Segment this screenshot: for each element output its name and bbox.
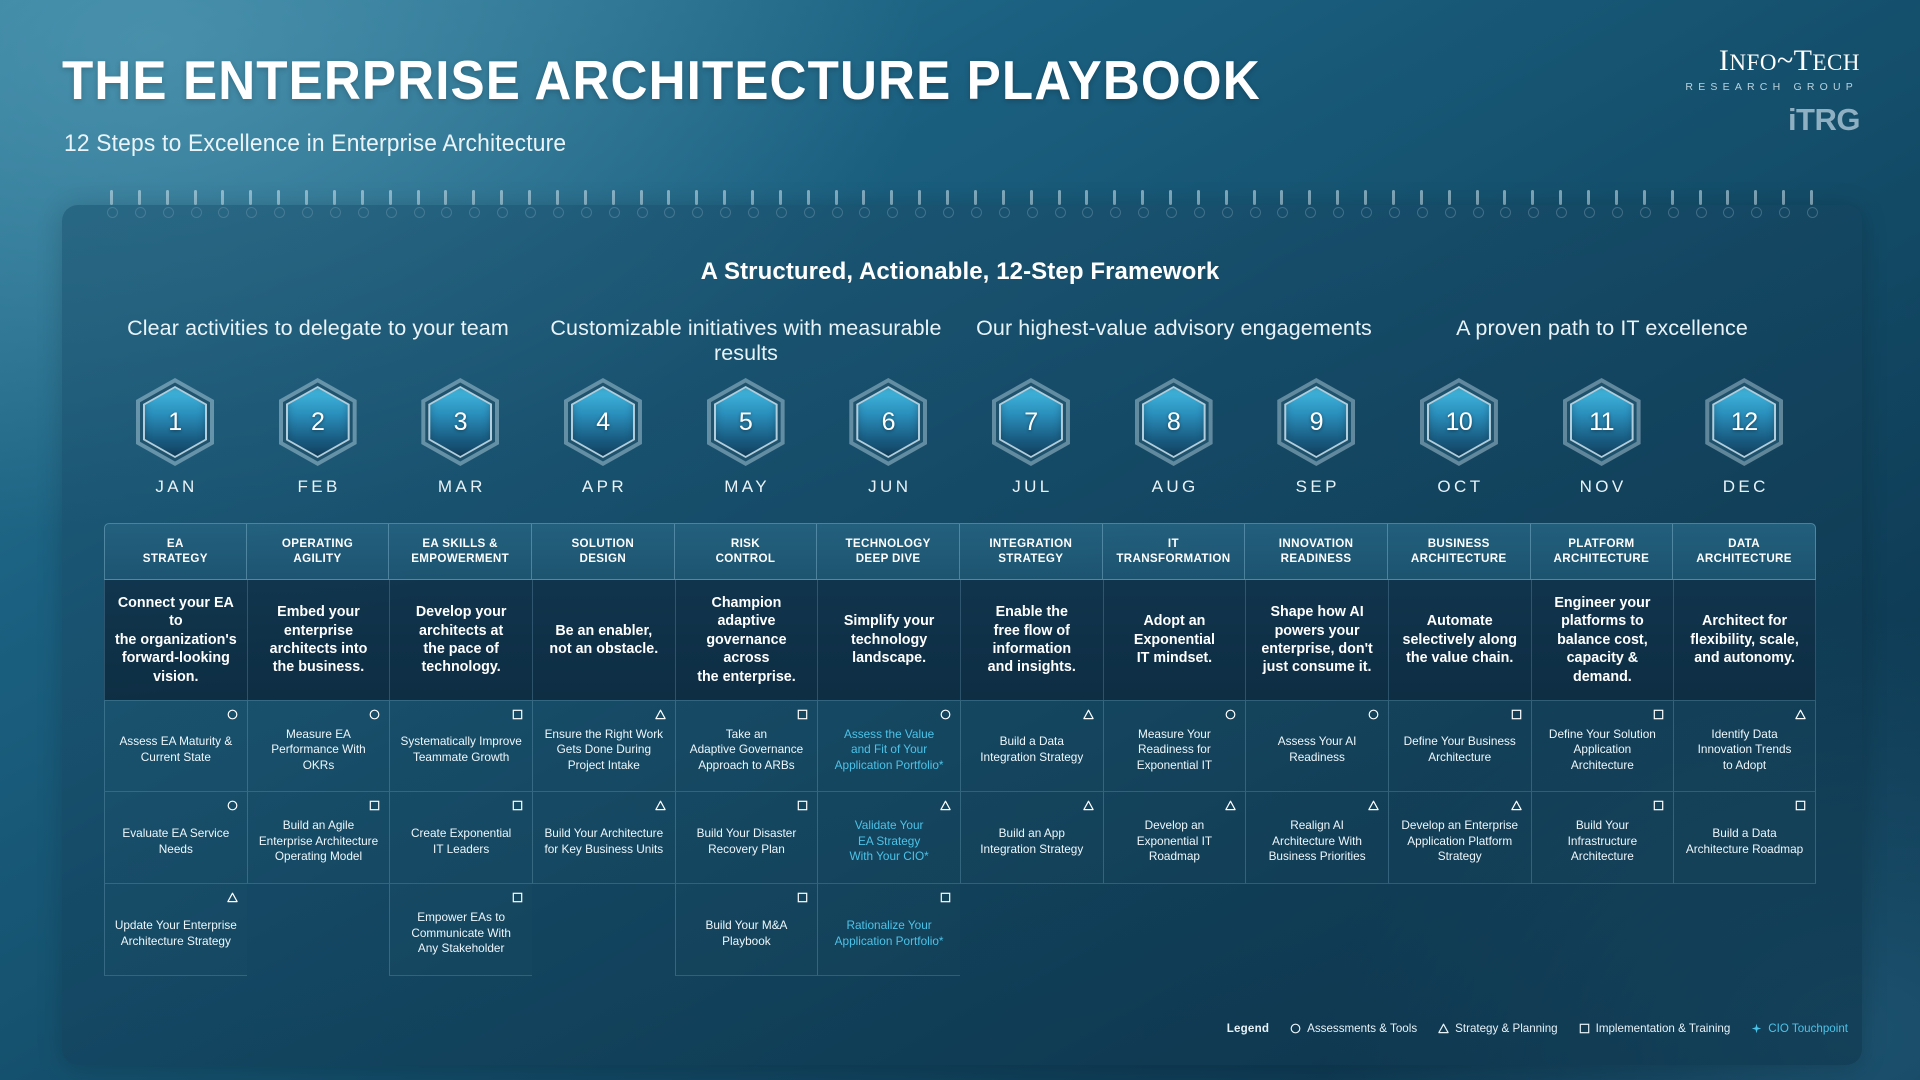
step-hexagon-2: 2 bbox=[278, 378, 358, 466]
step-hexagon-7: 7 bbox=[991, 378, 1071, 466]
activity-cell[interactable]: Build Your M&APlaybook bbox=[675, 884, 818, 976]
statement-column-8: Adopt anExponentialIT mindset. bbox=[1103, 580, 1246, 700]
activity-cell[interactable]: Build a DataArchitecture Roadmap bbox=[1673, 792, 1816, 884]
activity-column-12 bbox=[1673, 884, 1816, 976]
column-statement-2: Embed yourenterprisearchitects intothe b… bbox=[247, 580, 390, 700]
activity-label: Build an AgileEnterprise ArchitectureOpe… bbox=[259, 818, 378, 865]
activity-column-2 bbox=[247, 884, 390, 976]
grid-column-9: INNOVATIONREADINESS bbox=[1245, 523, 1388, 580]
activity-column-8: Develop anExponential ITRoadmap bbox=[1103, 792, 1246, 884]
grid-column-4: SOLUTIONDESIGN bbox=[532, 523, 675, 580]
statement-column-11: Engineer yourplatforms tobalance cost,ca… bbox=[1531, 580, 1674, 700]
grid-column-5: RISKCONTROL bbox=[675, 523, 818, 580]
activity-label: Rationalize YourApplication Portfolio* bbox=[835, 918, 944, 949]
activity-cell[interactable]: Evaluate EA ServiceNeeds bbox=[104, 792, 247, 884]
spiral-ring bbox=[974, 190, 977, 205]
activity-column-8: Measure YourReadiness forExponential IT bbox=[1103, 700, 1246, 792]
spiral-ring bbox=[1531, 190, 1534, 205]
band-label-3: Our highest-value advisory engagements bbox=[960, 316, 1388, 341]
column-header-11[interactable]: PLATFORMARCHITECTURE bbox=[1531, 523, 1674, 580]
spiral-ring bbox=[1308, 190, 1311, 205]
activity-label: Build a DataArchitecture Roadmap bbox=[1686, 826, 1803, 857]
legend-item-label: CIO Touchpoint bbox=[1768, 1022, 1848, 1035]
step-8[interactable]: 8AUG bbox=[1103, 378, 1245, 497]
spiral-ring bbox=[556, 190, 559, 205]
step-hexagon-12: 12 bbox=[1704, 378, 1784, 466]
column-statement-1: Connect your EA tothe organization'sforw… bbox=[104, 580, 247, 700]
spiral-ring bbox=[110, 190, 113, 205]
activity-cell-empty bbox=[247, 884, 390, 976]
step-number: 7 bbox=[1024, 408, 1037, 437]
activity-label: Realign AIArchitecture WithBusiness Prio… bbox=[1269, 818, 1366, 865]
activity-label: Systematically ImproveTeammate Growth bbox=[401, 734, 522, 765]
activity-column-9: Assess Your AIReadiness bbox=[1245, 700, 1388, 792]
column-header-5[interactable]: RISKCONTROL bbox=[675, 523, 818, 580]
step-number: 4 bbox=[596, 408, 609, 437]
activity-label: Develop an EnterpriseApplication Platfor… bbox=[1401, 818, 1518, 865]
triangle-marker-icon bbox=[655, 800, 666, 811]
activity-cell[interactable]: Develop anExponential ITRoadmap bbox=[1103, 792, 1246, 884]
step-7[interactable]: 7JUL bbox=[960, 378, 1102, 497]
spiral-ring bbox=[779, 190, 782, 205]
spiral-ring bbox=[1392, 190, 1395, 205]
spiral-ring bbox=[1559, 190, 1562, 205]
activity-column-3: Empower EAs toCommunicate WithAny Stakeh… bbox=[389, 884, 532, 976]
square-marker-icon bbox=[512, 892, 523, 903]
triangle-marker-icon bbox=[1511, 800, 1522, 811]
activity-cell[interactable]: Assess the Valueand Fit of YourApplicati… bbox=[817, 700, 960, 792]
spiral-ring bbox=[528, 190, 531, 205]
column-header-7[interactable]: INTEGRATIONSTRATEGY bbox=[960, 523, 1103, 580]
spiral-ring bbox=[305, 190, 308, 205]
activity-column-7 bbox=[960, 884, 1103, 976]
activity-label: Empower EAs toCommunicate WithAny Stakeh… bbox=[411, 910, 511, 957]
statement-column-1: Connect your EA tothe organization'sforw… bbox=[104, 580, 247, 700]
activity-cell[interactable]: Measure EAPerformance WithOKRs bbox=[247, 700, 390, 792]
spiral-ring bbox=[417, 190, 420, 205]
statement-column-6: Simplify yourtechnologylandscape. bbox=[817, 580, 960, 700]
spiral-ring bbox=[166, 190, 169, 205]
activity-column-3: Create ExponentialIT Leaders bbox=[389, 792, 532, 884]
spiral-ring bbox=[361, 190, 364, 205]
activity-cell-empty bbox=[532, 884, 675, 976]
activity-column-9: Realign AIArchitecture WithBusiness Prio… bbox=[1245, 792, 1388, 884]
spiral-ring bbox=[1615, 190, 1618, 205]
activity-cell[interactable]: Systematically ImproveTeammate Growth bbox=[389, 700, 532, 792]
spiral-ring bbox=[1448, 190, 1451, 205]
column-statement-8: Adopt anExponentialIT mindset. bbox=[1103, 580, 1246, 700]
spiral-ring bbox=[1030, 190, 1033, 205]
column-header-6[interactable]: TECHNOLOGYDEEP DIVE bbox=[817, 523, 960, 580]
activity-column-2: Measure EAPerformance WithOKRs bbox=[247, 700, 390, 792]
activity-column-1: Evaluate EA ServiceNeeds bbox=[104, 792, 247, 884]
step-9[interactable]: 9SEP bbox=[1245, 378, 1387, 497]
spiral-ring bbox=[249, 190, 252, 205]
activity-column-5: Build Your M&APlaybook bbox=[675, 884, 818, 976]
statement-column-7: Enable thefree flow ofinformationand ins… bbox=[960, 580, 1103, 700]
activity-cell-empty bbox=[1673, 884, 1816, 976]
activity-label: Build YourInfrastructureArchitecture bbox=[1568, 818, 1638, 865]
spiral-ring bbox=[751, 190, 754, 205]
activity-cell[interactable]: Build Your DisasterRecovery Plan bbox=[675, 792, 818, 884]
activity-label: Validate YourEA StrategyWith Your CIO* bbox=[849, 818, 928, 865]
column-header-8[interactable]: ITTRANSFORMATION bbox=[1103, 523, 1246, 580]
step-1[interactable]: 1JAN bbox=[104, 378, 246, 497]
activity-column-11 bbox=[1531, 884, 1674, 976]
spiral-ring bbox=[1754, 190, 1757, 205]
page-subtitle: 12 Steps to Excellence in Enterprise Arc… bbox=[64, 130, 566, 158]
activity-cell-empty bbox=[1245, 884, 1388, 976]
grid-column-12: DATAARCHITECTURE bbox=[1673, 523, 1816, 580]
activity-column-10: Develop an EnterpriseApplication Platfor… bbox=[1388, 792, 1531, 884]
triangle-marker-icon bbox=[655, 709, 666, 720]
step-month-label: JUL bbox=[960, 477, 1102, 497]
spiral-ring bbox=[1364, 190, 1367, 205]
logo-wordmark: INFO~TECH bbox=[1640, 46, 1860, 76]
circle-marker-icon bbox=[940, 709, 951, 720]
triangle-marker-icon bbox=[1368, 800, 1379, 811]
step-hexagon-3: 3 bbox=[420, 378, 500, 466]
activity-label: Build an AppIntegration Strategy bbox=[980, 826, 1083, 857]
spiral-ring bbox=[1085, 190, 1088, 205]
step-month-label: DEC bbox=[1673, 477, 1815, 497]
page-title: THE ENTERPRISE ARCHITECTURE PLAYBOOK bbox=[62, 48, 1261, 112]
activity-label: Define Your SolutionApplicationArchitect… bbox=[1549, 727, 1656, 774]
step-hexagon-5: 5 bbox=[706, 378, 786, 466]
step-number: 6 bbox=[882, 408, 895, 437]
spiral-ring bbox=[1113, 190, 1116, 205]
column-statement-4: Be an enabler,not an obstacle. bbox=[532, 580, 675, 700]
legend-item-2: Strategy & Planning bbox=[1438, 1022, 1557, 1035]
spiral-ring bbox=[640, 190, 643, 205]
column-header-12[interactable]: DATAARCHITECTURE bbox=[1673, 523, 1816, 580]
grid-activity-row-2: Evaluate EA ServiceNeedsBuild an AgileEn… bbox=[104, 792, 1816, 884]
activity-cell-empty bbox=[1103, 884, 1246, 976]
triangle-marker-icon bbox=[1083, 709, 1094, 720]
grid-column-3: EA SKILLS &EMPOWERMENT bbox=[389, 523, 532, 580]
activity-label: Measure EAPerformance WithOKRs bbox=[271, 727, 365, 774]
square-marker-icon bbox=[940, 892, 951, 903]
circle-legend-icon bbox=[1290, 1023, 1301, 1034]
activity-column-4: Build Your Architecturefor Key Business … bbox=[532, 792, 675, 884]
spiral-ring bbox=[835, 190, 838, 205]
spiral-ring bbox=[723, 190, 726, 205]
square-marker-icon bbox=[369, 800, 380, 811]
logo-tagline: RESEARCH GROUP bbox=[1640, 81, 1860, 93]
activity-column-1: Update Your EnterpriseArchitecture Strat… bbox=[104, 884, 247, 976]
activity-cell[interactable]: Validate YourEA StrategyWith Your CIO* bbox=[817, 792, 960, 884]
activity-label: Build a DataIntegration Strategy bbox=[980, 734, 1083, 765]
step-month-label: JUN bbox=[817, 477, 959, 497]
step-hexagon-10: 10 bbox=[1419, 378, 1499, 466]
activity-cell-empty bbox=[1388, 884, 1531, 976]
activity-label: Update Your EnterpriseArchitecture Strat… bbox=[115, 918, 237, 949]
spiral-ring bbox=[862, 190, 865, 205]
activity-column-2: Build an AgileEnterprise ArchitectureOpe… bbox=[247, 792, 390, 884]
activity-label: Assess EA Maturity &Current State bbox=[119, 734, 232, 765]
logo-itrg-mark: iTRG bbox=[1640, 104, 1860, 135]
spiral-ring bbox=[1280, 190, 1283, 205]
grid-column-10: BUSINESSARCHITECTURE bbox=[1388, 523, 1531, 580]
grid-column-11: PLATFORMARCHITECTURE bbox=[1531, 523, 1674, 580]
step-hexagon-6: 6 bbox=[848, 378, 928, 466]
triangle-marker-icon bbox=[227, 892, 238, 903]
circle-marker-icon bbox=[227, 709, 238, 720]
column-statement-11: Engineer yourplatforms tobalance cost,ca… bbox=[1531, 580, 1674, 700]
activity-column-11: Define Your SolutionApplicationArchitect… bbox=[1531, 700, 1674, 792]
spiral-ring bbox=[472, 190, 475, 205]
grid-column-6: TECHNOLOGYDEEP DIVE bbox=[817, 523, 960, 580]
spiral-ring bbox=[277, 190, 280, 205]
square-marker-icon bbox=[797, 892, 808, 903]
activity-cell[interactable]: Build YourInfrastructureArchitecture bbox=[1531, 792, 1674, 884]
activity-label: Take anAdaptive GovernanceApproach to AR… bbox=[690, 727, 803, 774]
activity-column-9 bbox=[1245, 884, 1388, 976]
activity-cell[interactable]: Assess EA Maturity &Current State bbox=[104, 700, 247, 792]
spiral-ring bbox=[1782, 190, 1785, 205]
square-legend-icon bbox=[1579, 1023, 1590, 1034]
activity-cell[interactable]: Build Your Architecturefor Key Business … bbox=[532, 792, 675, 884]
grid-header-row: EASTRATEGYOPERATINGAGILITYEA SKILLS &EMP… bbox=[104, 523, 1816, 580]
spiral-ring bbox=[138, 190, 141, 205]
band-label-1: Clear activities to delegate to your tea… bbox=[104, 316, 532, 341]
circle-marker-icon bbox=[227, 800, 238, 811]
circle-marker-icon bbox=[1225, 709, 1236, 720]
triangle-marker-icon bbox=[1083, 800, 1094, 811]
step-hexagon-4: 4 bbox=[563, 378, 643, 466]
grid-activity-row-1: Assess EA Maturity &Current StateMeasure… bbox=[104, 700, 1816, 792]
square-marker-icon bbox=[1653, 800, 1664, 811]
legend-item-label: Implementation & Training bbox=[1596, 1022, 1731, 1035]
square-marker-icon bbox=[797, 800, 808, 811]
column-statement-10: Automateselectively alongthe value chain… bbox=[1388, 580, 1531, 700]
activity-cell[interactable]: Realign AIArchitecture WithBusiness Prio… bbox=[1245, 792, 1388, 884]
playbook-grid: EASTRATEGYOPERATINGAGILITYEA SKILLS &EMP… bbox=[104, 523, 1816, 976]
activity-cell-empty bbox=[960, 884, 1103, 976]
grid-column-1: EASTRATEGY bbox=[104, 523, 247, 580]
activity-column-4: Ensure the Right WorkGets Done DuringPro… bbox=[532, 700, 675, 792]
logo-tech: T bbox=[1794, 44, 1813, 77]
step-month-label: APR bbox=[532, 477, 674, 497]
step-4[interactable]: 4APR bbox=[532, 378, 674, 497]
grid-column-2: OPERATINGAGILITY bbox=[247, 523, 390, 580]
star-legend-icon bbox=[1751, 1023, 1762, 1034]
square-marker-icon bbox=[512, 800, 523, 811]
step-hexagon-8: 8 bbox=[1134, 378, 1214, 466]
brand-logo: INFO~TECH RESEARCH GROUP iTRG bbox=[1640, 46, 1860, 135]
activity-cell[interactable]: Develop an EnterpriseApplication Platfor… bbox=[1388, 792, 1531, 884]
activity-column-4 bbox=[532, 884, 675, 976]
step-hexagon-9: 9 bbox=[1276, 378, 1356, 466]
band-label-2: Customizable initiatives with measurable… bbox=[532, 316, 960, 366]
step-month-label: NOV bbox=[1531, 477, 1673, 497]
spiral-ring bbox=[807, 190, 810, 205]
legend-item-label: Assessments & Tools bbox=[1307, 1022, 1417, 1035]
spiral-ring bbox=[500, 190, 503, 205]
activity-cell[interactable]: Assess Your AIReadiness bbox=[1245, 700, 1388, 792]
square-marker-icon bbox=[797, 709, 808, 720]
activity-column-1: Assess EA Maturity &Current State bbox=[104, 700, 247, 792]
step-hexagon-11: 11 bbox=[1562, 378, 1642, 466]
triangle-marker-icon bbox=[1795, 709, 1806, 720]
square-marker-icon bbox=[1653, 709, 1664, 720]
grid-column-7: INTEGRATIONSTRATEGY bbox=[960, 523, 1103, 580]
step-6[interactable]: 6JUN bbox=[817, 378, 959, 497]
step-11[interactable]: 11NOV bbox=[1531, 378, 1673, 497]
activity-cell[interactable]: Measure YourReadiness forExponential IT bbox=[1103, 700, 1246, 792]
activity-label: Define Your BusinessArchitecture bbox=[1404, 734, 1516, 765]
spiral-ring bbox=[695, 190, 698, 205]
activity-cell[interactable]: Rationalize YourApplication Portfolio* bbox=[817, 884, 960, 976]
spiral-ring bbox=[584, 190, 587, 205]
step-number: 1 bbox=[168, 408, 181, 437]
activity-column-6: Rationalize YourApplication Portfolio* bbox=[817, 884, 960, 976]
band-label-row: Clear activities to delegate to your tea… bbox=[0, 316, 1920, 346]
circle-marker-icon bbox=[1368, 709, 1379, 720]
legend-item-4: CIO Touchpoint bbox=[1751, 1022, 1848, 1035]
step-10[interactable]: 10OCT bbox=[1388, 378, 1530, 497]
column-header-9[interactable]: INNOVATIONREADINESS bbox=[1245, 523, 1388, 580]
step-month-label: JAN bbox=[104, 477, 246, 497]
spiral-ring bbox=[333, 190, 336, 205]
step-hexagon-1: 1 bbox=[135, 378, 215, 466]
activity-label: Ensure the Right WorkGets Done DuringPro… bbox=[545, 727, 663, 774]
step-number: 2 bbox=[311, 408, 324, 437]
step-month-label: FEB bbox=[247, 477, 389, 497]
step-number: 12 bbox=[1731, 408, 1758, 437]
step-5[interactable]: 5MAY bbox=[675, 378, 817, 497]
column-header-1[interactable]: EASTRATEGY bbox=[104, 523, 247, 580]
activity-column-10: Define Your BusinessArchitecture bbox=[1388, 700, 1531, 792]
activity-cell-empty bbox=[1531, 884, 1674, 976]
spiral-ring bbox=[1197, 190, 1200, 205]
step-number: 8 bbox=[1167, 408, 1180, 437]
spiral-ring bbox=[612, 190, 615, 205]
column-header-3[interactable]: EA SKILLS &EMPOWERMENT bbox=[389, 523, 532, 580]
statement-column-4: Be an enabler,not an obstacle. bbox=[532, 580, 675, 700]
activity-column-8 bbox=[1103, 884, 1246, 976]
spiral-ring bbox=[1476, 190, 1479, 205]
activity-cell[interactable]: Define Your SolutionApplicationArchitect… bbox=[1531, 700, 1674, 792]
spiral-ring bbox=[1643, 190, 1646, 205]
grid-activity-row-3: Update Your EnterpriseArchitecture Strat… bbox=[104, 884, 1816, 976]
band-label-4: A proven path to IT excellence bbox=[1388, 316, 1816, 341]
spiral-ring bbox=[1225, 190, 1228, 205]
spiral-ring bbox=[221, 190, 224, 205]
step-2[interactable]: 2FEB bbox=[247, 378, 389, 497]
activity-cell[interactable]: Update Your EnterpriseArchitecture Strat… bbox=[104, 884, 247, 976]
square-marker-icon bbox=[512, 709, 523, 720]
spiral-ring bbox=[1253, 190, 1256, 205]
statement-column-5: Championadaptivegovernanceacrossthe ente… bbox=[675, 580, 818, 700]
activity-cell[interactable]: Take anAdaptive GovernanceApproach to AR… bbox=[675, 700, 818, 792]
activity-cell[interactable]: Empower EAs toCommunicate WithAny Stakeh… bbox=[389, 884, 532, 976]
legend-item-1: Assessments & Tools bbox=[1290, 1022, 1417, 1035]
activity-label: Evaluate EA ServiceNeeds bbox=[122, 826, 229, 857]
activity-label: Build Your Architecturefor Key Business … bbox=[544, 826, 663, 857]
step-month-label: SEP bbox=[1245, 477, 1387, 497]
spiral-ring bbox=[1503, 190, 1506, 205]
column-statement-3: Develop yourarchitects atthe pace oftech… bbox=[389, 580, 532, 700]
activity-cell[interactable]: Build a DataIntegration Strategy bbox=[960, 700, 1103, 792]
spiral-ring bbox=[1810, 190, 1813, 205]
activity-column-5: Take anAdaptive GovernanceApproach to AR… bbox=[675, 700, 818, 792]
activity-column-5: Build Your DisasterRecovery Plan bbox=[675, 792, 818, 884]
activity-column-6: Assess the Valueand Fit of YourApplicati… bbox=[817, 700, 960, 792]
statement-column-2: Embed yourenterprisearchitects intothe b… bbox=[247, 580, 390, 700]
spiral-ring bbox=[1587, 190, 1590, 205]
spiral-ring bbox=[1002, 190, 1005, 205]
step-number: 11 bbox=[1589, 408, 1614, 437]
activity-column-12: Build a DataArchitecture Roadmap bbox=[1673, 792, 1816, 884]
logo-tech-rest: ECH bbox=[1813, 50, 1861, 75]
activity-cell[interactable]: Build an AppIntegration Strategy bbox=[960, 792, 1103, 884]
step-number: 5 bbox=[739, 408, 752, 437]
step-number: 10 bbox=[1446, 408, 1473, 437]
square-marker-icon bbox=[1511, 709, 1522, 720]
grid-column-8: ITTRANSFORMATION bbox=[1103, 523, 1246, 580]
activity-column-7: Build an AppIntegration Strategy bbox=[960, 792, 1103, 884]
activity-cell[interactable]: Identify DataInnovation Trendsto Adopt bbox=[1673, 700, 1816, 792]
column-statement-9: Shape how AIpowers yourenterprise, don't… bbox=[1245, 580, 1388, 700]
activity-cell[interactable]: Build an AgileEnterprise ArchitectureOpe… bbox=[247, 792, 390, 884]
column-header-4[interactable]: SOLUTIONDESIGN bbox=[532, 523, 675, 580]
activity-column-3: Systematically ImproveTeammate Growth bbox=[389, 700, 532, 792]
step-month-label: MAR bbox=[389, 477, 531, 497]
triangle-legend-icon bbox=[1438, 1023, 1449, 1034]
activity-label: Build Your M&APlaybook bbox=[705, 918, 787, 949]
step-month-label: AUG bbox=[1103, 477, 1245, 497]
activity-cell[interactable]: Define Your BusinessArchitecture bbox=[1388, 700, 1531, 792]
step-number: 3 bbox=[454, 408, 467, 437]
legend-title: Legend bbox=[1227, 1022, 1269, 1035]
page-header: THE ENTERPRISE ARCHITECTURE PLAYBOOK 12 … bbox=[0, 0, 1920, 190]
activity-cell[interactable]: Ensure the Right WorkGets Done DuringPro… bbox=[532, 700, 675, 792]
legend-item-label: Strategy & Planning bbox=[1455, 1022, 1557, 1035]
activity-cell[interactable]: Create ExponentialIT Leaders bbox=[389, 792, 532, 884]
spiral-ring bbox=[1169, 190, 1172, 205]
spiral-ring bbox=[667, 190, 670, 205]
activity-label: Measure YourReadiness forExponential IT bbox=[1137, 727, 1212, 774]
step-month-label: OCT bbox=[1388, 477, 1530, 497]
spiral-ring bbox=[1420, 190, 1423, 205]
step-number: 9 bbox=[1310, 408, 1323, 437]
legend-item-3: Implementation & Training bbox=[1579, 1022, 1731, 1035]
circle-marker-icon bbox=[369, 709, 380, 720]
logo-info-rest: NFO bbox=[1729, 50, 1777, 75]
spiral-ring bbox=[890, 190, 893, 205]
column-statement-5: Championadaptivegovernanceacrossthe ente… bbox=[675, 580, 818, 700]
spiral-ring bbox=[1726, 190, 1729, 205]
spiral-ring bbox=[389, 190, 392, 205]
step-12[interactable]: 12DEC bbox=[1673, 378, 1815, 497]
grid-statement-row: Connect your EA tothe organization'sforw… bbox=[104, 580, 1816, 700]
column-header-10[interactable]: BUSINESSARCHITECTURE bbox=[1388, 523, 1531, 580]
step-3[interactable]: 3MAR bbox=[389, 378, 531, 497]
activity-column-12: Identify DataInnovation Trendsto Adopt bbox=[1673, 700, 1816, 792]
statement-column-3: Develop yourarchitects atthe pace oftech… bbox=[389, 580, 532, 700]
logo-info: I bbox=[1719, 44, 1730, 77]
column-statement-12: Architect forflexibility, scale,and auto… bbox=[1673, 580, 1816, 700]
activity-label: Identify DataInnovation Trendsto Adopt bbox=[1698, 727, 1792, 774]
activity-label: Build Your DisasterRecovery Plan bbox=[697, 826, 797, 857]
activity-column-10 bbox=[1388, 884, 1531, 976]
column-header-2[interactable]: OPERATINGAGILITY bbox=[247, 523, 390, 580]
framework-title: A Structured, Actionable, 12-Step Framew… bbox=[0, 258, 1920, 286]
activity-label: Assess the Valueand Fit of YourApplicati… bbox=[835, 727, 944, 774]
activity-column-7: Build a DataIntegration Strategy bbox=[960, 700, 1103, 792]
column-statement-6: Simplify yourtechnologylandscape. bbox=[817, 580, 960, 700]
